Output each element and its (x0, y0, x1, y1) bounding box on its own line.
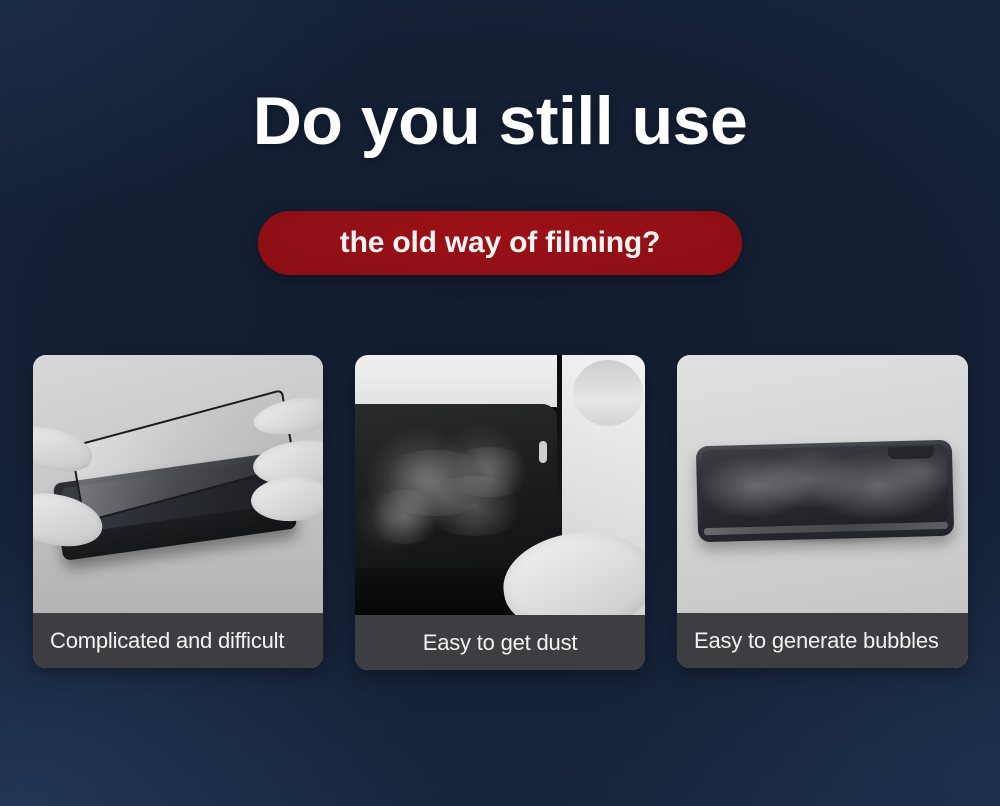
promo-poster: Do you still use the old way of filming? (0, 0, 1000, 806)
dusty-smudged-screen-photo (355, 355, 645, 615)
phone-body (696, 440, 954, 543)
hands-applying-screen-protector-photo (33, 355, 323, 613)
phone-screen (355, 404, 558, 568)
notch (888, 446, 934, 459)
card-caption: Easy to generate bubbles (677, 613, 968, 668)
phone-bezel-top (355, 355, 564, 407)
card-caption-label: Easy to get dust (423, 630, 578, 656)
card-caption-label: Complicated and difficult (50, 628, 284, 654)
finger (573, 360, 643, 426)
status-badge-label: the old way of filming? (340, 226, 660, 260)
card-caption: Easy to get dust (355, 615, 645, 670)
phone-with-bubbles-photo (677, 355, 968, 613)
dust-smudge (365, 490, 445, 544)
card-caption: Complicated and difficult (33, 613, 323, 668)
card-caption-label: Easy to generate bubbles (694, 628, 939, 654)
list-item[interactable]: Complicated and difficult (33, 355, 323, 668)
list-item[interactable]: Easy to generate bubbles (677, 355, 968, 668)
badge-container: the old way of filming? (0, 211, 1000, 275)
list-item[interactable]: Easy to get dust (355, 355, 645, 670)
speaker-slot (539, 441, 547, 463)
problem-cards-row: Complicated and difficult (33, 355, 968, 671)
page-title: Do you still use (0, 86, 1000, 157)
dust-smudge (444, 447, 536, 497)
status-badge: the old way of filming? (258, 211, 742, 275)
